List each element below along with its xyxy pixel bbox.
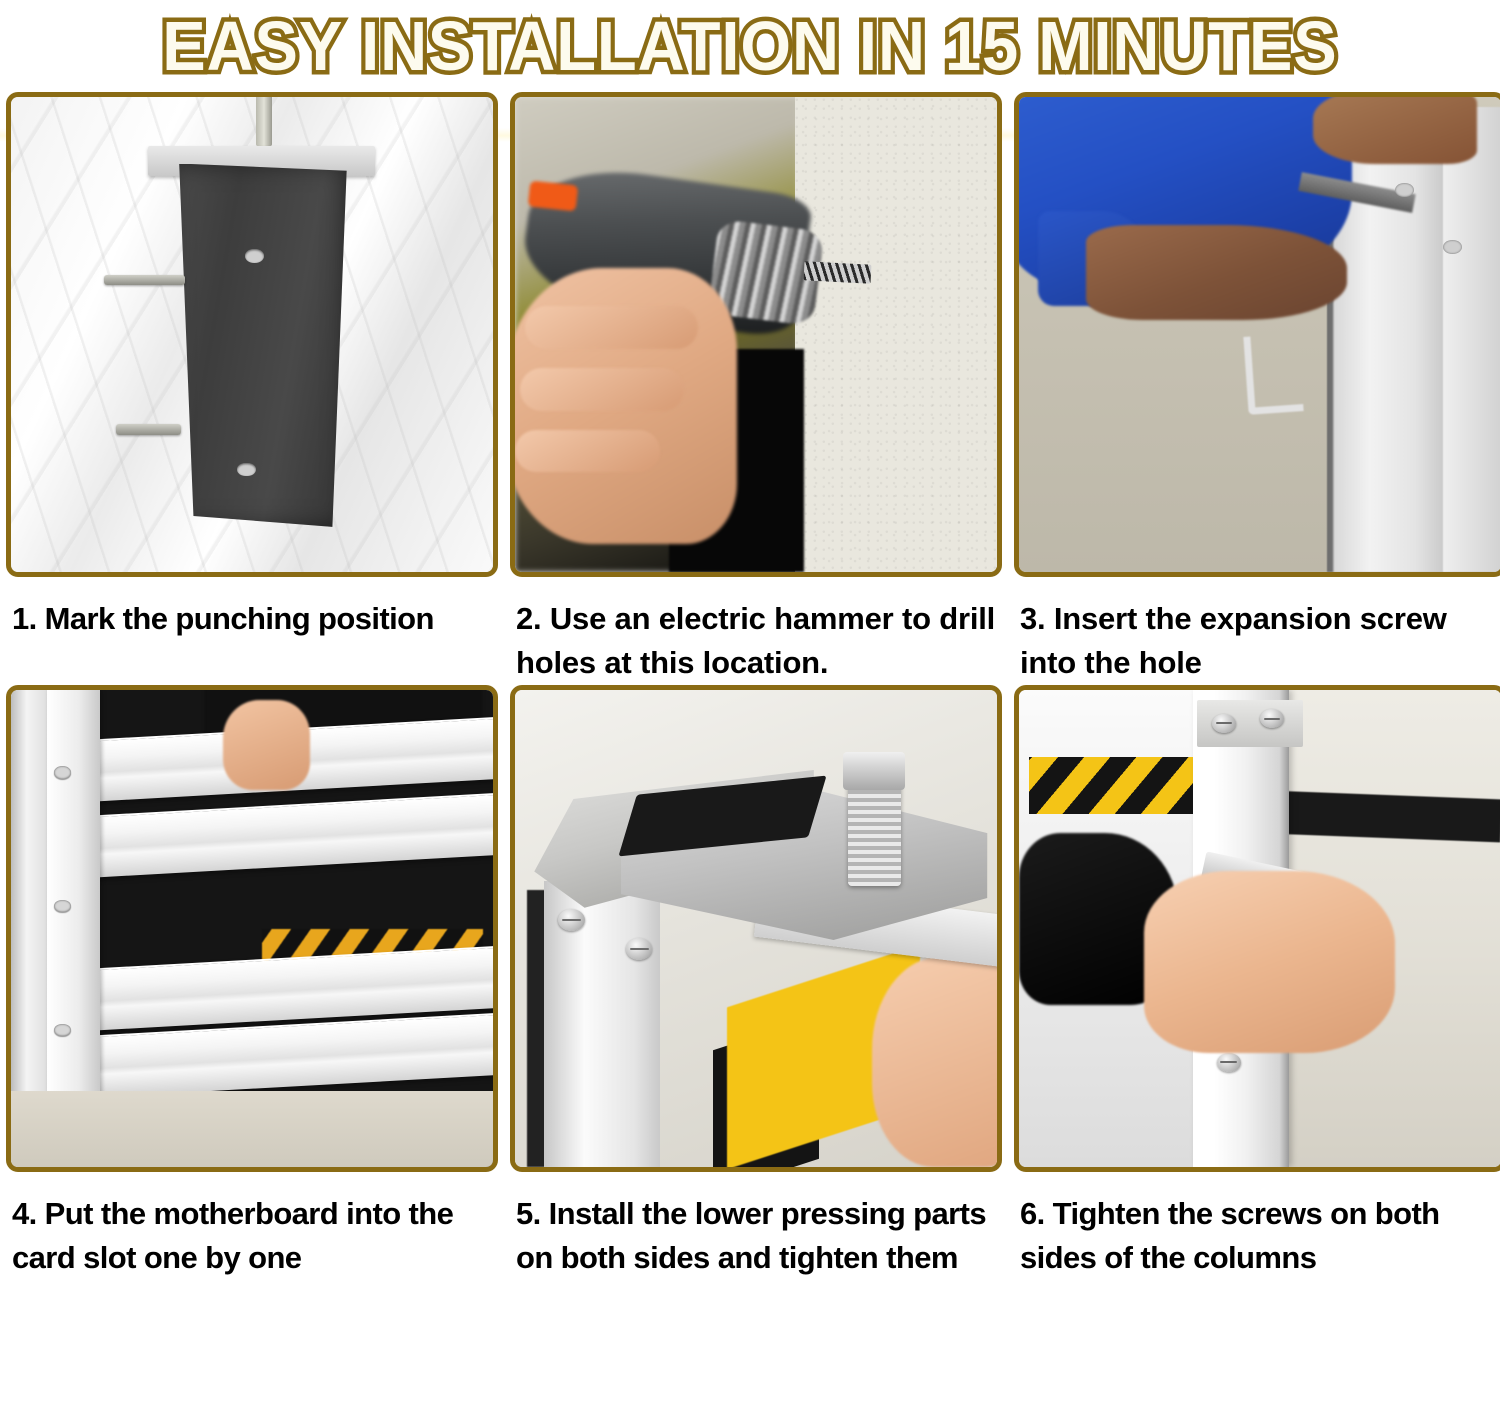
step-4-image-frame bbox=[6, 685, 498, 1172]
column-screw-bottom bbox=[1217, 1053, 1241, 1072]
column-screw-upper bbox=[1395, 183, 1414, 197]
step-card-1: 1. Mark the punching position bbox=[6, 92, 498, 685]
step-4-photo bbox=[11, 690, 493, 1167]
step-2-image-frame bbox=[510, 92, 1002, 577]
step-5-caption: 5. Install the lower pressing parts on b… bbox=[510, 1172, 1002, 1280]
step-5-image-frame bbox=[510, 685, 1002, 1172]
step-6-photo bbox=[1019, 690, 1500, 1167]
column-screw-3 bbox=[54, 1024, 70, 1036]
page-title: EASY INSTALLATION IN 15 MINUTES bbox=[162, 11, 1337, 81]
step-1-photo bbox=[11, 97, 493, 572]
column-screw-top-1 bbox=[1212, 714, 1236, 733]
hex-key-icon bbox=[1243, 333, 1304, 415]
step-3-caption: 3. Insert the expansion screw into the h… bbox=[1014, 577, 1500, 685]
installation-steps-grid: 1. Mark the punching position 2. Use an … bbox=[0, 92, 1500, 1280]
step-3-photo bbox=[1019, 97, 1500, 572]
step-card-4: 4. Put the motherboard into the card slo… bbox=[6, 685, 498, 1280]
top-bolt-icon bbox=[256, 97, 272, 146]
step-4-caption: 4. Put the motherboard into the card slo… bbox=[6, 1172, 498, 1280]
step-6-image-frame bbox=[1014, 685, 1500, 1172]
step-6-caption: 6. Tighten the screws on both sides of t… bbox=[1014, 1172, 1500, 1280]
step-2-caption: 2. Use an electric hammer to drill holes… bbox=[510, 577, 1002, 685]
step-1-image-frame bbox=[6, 92, 498, 577]
drill-trigger-icon bbox=[528, 180, 579, 211]
hazard-stripe bbox=[1029, 757, 1193, 814]
mark-hole-lower bbox=[237, 463, 255, 477]
step-card-2: 2. Use an electric hammer to drill holes… bbox=[510, 92, 1002, 685]
step-card-3: 3. Insert the expansion screw into the h… bbox=[1014, 92, 1500, 685]
step-1-caption: 1. Mark the punching position bbox=[6, 577, 498, 641]
mark-hole-upper bbox=[245, 249, 263, 263]
column-screw-lower bbox=[1443, 240, 1462, 254]
page-title-bar: EASY INSTALLATION IN 15 MINUTES bbox=[0, 0, 1500, 92]
step-2-photo bbox=[515, 97, 997, 572]
column-screw-1 bbox=[54, 766, 70, 778]
step-card-5: 5. Install the lower pressing parts on b… bbox=[510, 685, 1002, 1280]
step-5-photo bbox=[515, 690, 997, 1167]
column-screw-2 bbox=[54, 900, 70, 912]
bracket-screw-2 bbox=[626, 938, 653, 960]
step-3-image-frame bbox=[1014, 92, 1500, 577]
drill-bit-icon bbox=[804, 261, 872, 284]
step-card-6: 6. Tighten the screws on both sides of t… bbox=[1014, 685, 1500, 1280]
